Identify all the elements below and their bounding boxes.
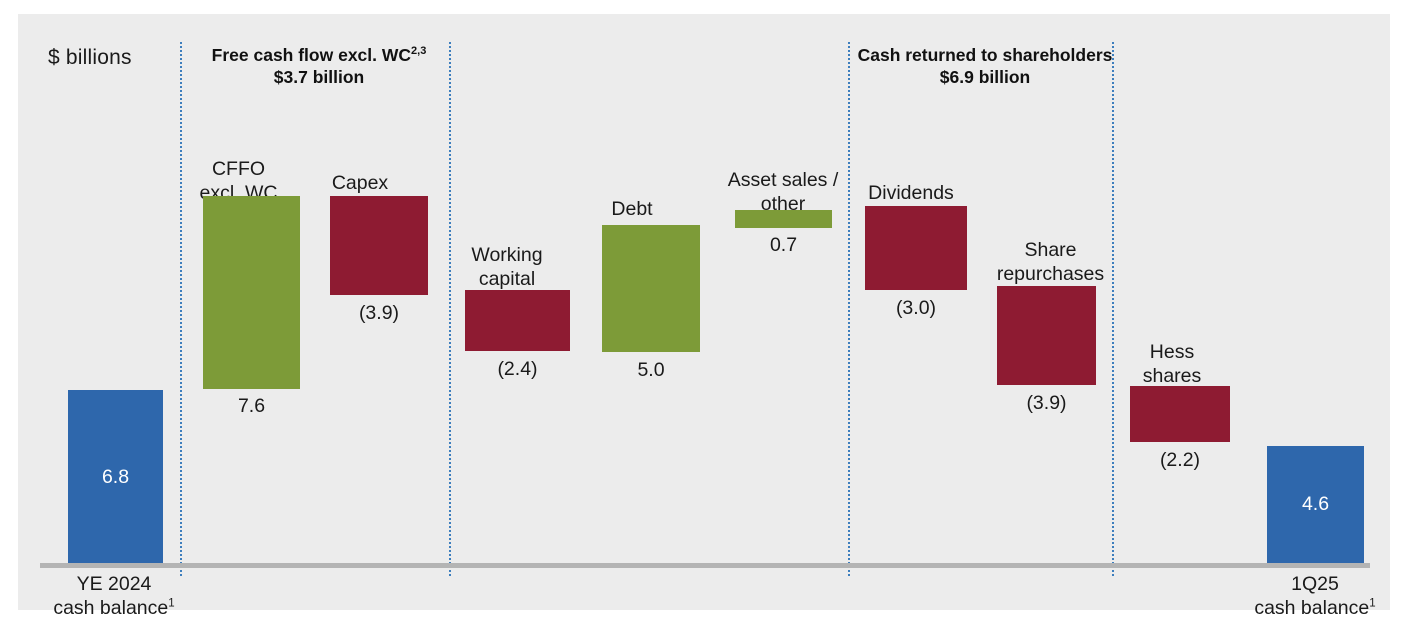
bar-value-asset-sales: 0.7 — [735, 234, 832, 257]
bar-value-capex: (3.9) — [330, 302, 428, 325]
axis-category-line1: 1Q25 — [1291, 573, 1339, 595]
bar-label-line2: shares — [1143, 365, 1202, 387]
axis-category-line2: cash balance — [1254, 597, 1369, 619]
bar-dividends — [865, 206, 967, 290]
axis-category-superscript: 1 — [168, 598, 174, 610]
bar-value-share-repurchases: (3.9) — [997, 392, 1096, 415]
axis-category-1q25: 1Q25 cash balance1 — [1215, 572, 1408, 620]
bar-label-line1: Capex — [332, 172, 388, 194]
bar-capex — [330, 196, 428, 295]
group-title-amount: $6.9 billion — [940, 67, 1030, 87]
bar-label-line1: CFFO — [212, 158, 265, 180]
bar-debt — [602, 225, 700, 352]
axis-category-superscript: 1 — [1369, 598, 1375, 610]
bar-asset-sales-other — [735, 210, 832, 228]
bar-value-dividends: (3.0) — [865, 297, 967, 320]
bar-label-dividends: Dividends — [846, 182, 976, 206]
bar-label-line1: Hess — [1150, 341, 1194, 363]
section-divider-2 — [449, 42, 451, 576]
chart-canvas: $ billions Free cash flow excl. WC2,3 $3… — [0, 0, 1408, 622]
bar-value-ye-2024: 6.8 — [68, 466, 163, 489]
bar-value-1q25: 4.6 — [1267, 493, 1364, 516]
bar-value-working-capital: (2.4) — [465, 358, 570, 381]
bar-label-share-repurchases: Share repurchases — [978, 239, 1123, 287]
axis-baseline-left — [40, 563, 1370, 568]
group-title-cash-returned: Cash returned to shareholders $6.9 billi… — [854, 44, 1116, 89]
group-title-line1: Free cash flow excl. WC — [212, 45, 411, 65]
group-title-superscript: 2,3 — [411, 45, 426, 57]
bar-label-capex: Capex — [311, 172, 409, 196]
section-divider-1 — [180, 42, 182, 576]
section-divider-3 — [848, 42, 850, 576]
group-title-line1: Cash returned to shareholders — [858, 45, 1113, 65]
bar-cffo-excl-wc — [203, 196, 300, 389]
axis-category-line2: cash balance — [53, 597, 168, 619]
bar-label-line2: capital — [479, 268, 535, 290]
bar-label-line1: Asset sales / — [728, 169, 839, 191]
section-divider-4 — [1112, 42, 1114, 576]
bar-label-line1: Dividends — [868, 182, 954, 204]
bar-hess-shares — [1130, 386, 1230, 442]
bar-label-working-capital: Working capital — [448, 244, 566, 292]
group-title-free-cash-flow: Free cash flow excl. WC2,3 $3.7 billion — [190, 44, 448, 89]
axis-category-ye-2024: YE 2024 cash balance1 — [14, 572, 214, 620]
axis-category-line1: YE 2024 — [77, 573, 152, 595]
bar-label-line1: Working — [471, 244, 542, 266]
bar-label-debt: Debt — [583, 198, 681, 222]
bar-value-debt: 5.0 — [602, 359, 700, 382]
chart-panel: $ billions Free cash flow excl. WC2,3 $3… — [18, 14, 1390, 610]
bar-label-line1: Debt — [611, 198, 652, 220]
bar-value-cffo: 7.6 — [203, 395, 300, 418]
bar-label-line1: Share — [1024, 239, 1076, 261]
bar-label-line2: repurchases — [997, 263, 1104, 285]
bar-label-hess-shares: Hess shares — [1113, 341, 1231, 389]
bar-share-repurchases — [997, 286, 1096, 385]
bar-working-capital — [465, 290, 570, 351]
units-label: $ billions — [48, 46, 132, 70]
bar-value-hess-shares: (2.2) — [1130, 449, 1230, 472]
group-title-amount: $3.7 billion — [274, 67, 364, 87]
